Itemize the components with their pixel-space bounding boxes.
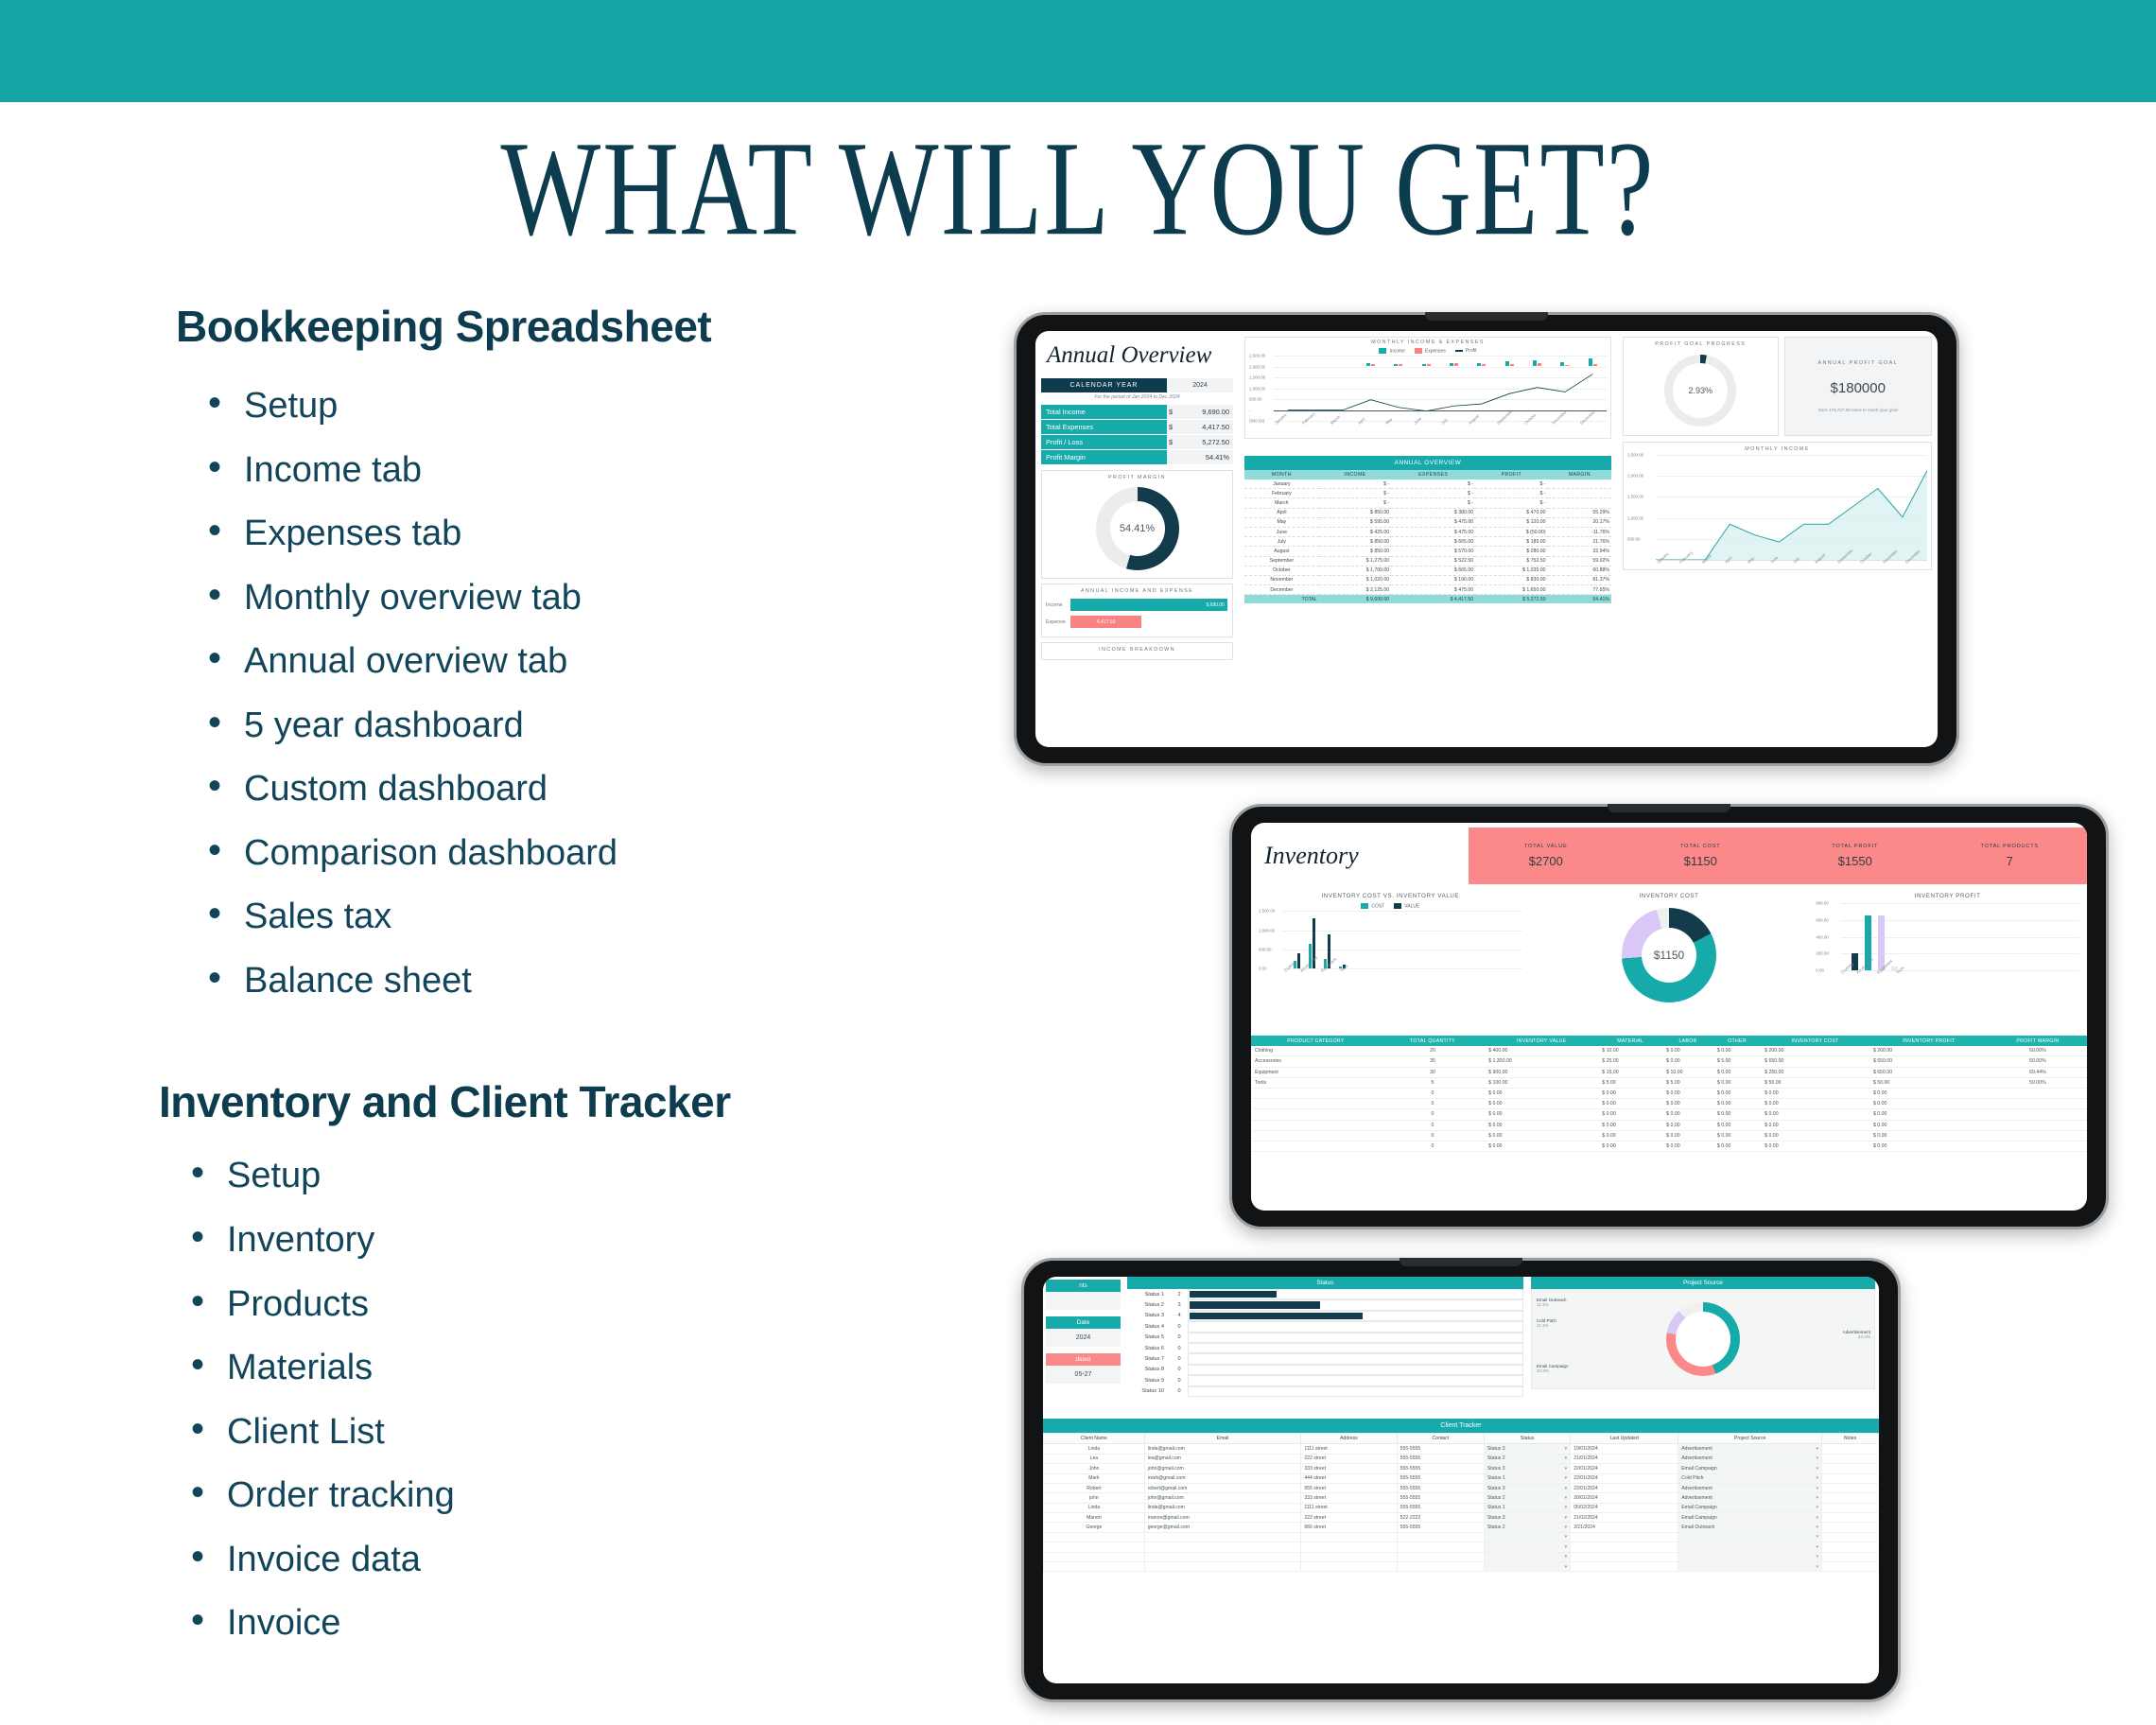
table-cell[interactable]: ▾ <box>1678 1561 1822 1571</box>
status-count: 4 <box>1171 1313 1188 1318</box>
table-cell: 222 street <box>1301 1454 1397 1463</box>
kpi-value: $2700 <box>1469 854 1624 868</box>
status-label: Status 10 <box>1127 1388 1171 1394</box>
table-cell <box>1989 1099 2087 1109</box>
status-row: Status 60 <box>1127 1343 1523 1353</box>
client-tracker-screen: nts Date 2024 dated 05-27 Status Status … <box>1043 1277 1879 1683</box>
table-cell: 20/01/2024 <box>1571 1493 1678 1503</box>
page-title: WHAT WILL YOU GET? <box>0 112 2156 268</box>
status-chart-panel: Status Status 12Status 23Status 34Status… <box>1123 1277 1527 1419</box>
project-source-title: Project Source <box>1531 1277 1875 1289</box>
table-cell[interactable]: Status 3▾ <box>1484 1464 1570 1473</box>
table-cell: $ - <box>1475 489 1547 498</box>
status-bar-track <box>1188 1321 1523 1332</box>
table-cell: -11.76% <box>1548 527 1611 536</box>
chevron-down-icon[interactable]: ▾ <box>1565 1534 1568 1540</box>
section-heading-inventory: Inventory and Client Tracker <box>159 1076 983 1127</box>
table-row: January$ -$ -$ - <box>1244 479 1611 489</box>
table-cell: $ 1,275.00 <box>1319 556 1391 566</box>
top-accent-bar <box>0 0 2156 102</box>
table-cell: $ 5,272.50 <box>1475 595 1547 604</box>
table-row: 0$ 0.00$ 0.00$ 0.00$ 0.00$ 0.00$ 0.00 <box>1251 1109 2087 1120</box>
status-bar-track <box>1188 1386 1523 1397</box>
table-row: ▾▾ <box>1044 1552 1879 1561</box>
table-cell: 0 <box>1381 1130 1485 1141</box>
chevron-down-icon[interactable]: ▾ <box>1565 1515 1568 1521</box>
table-cell <box>1251 1141 1381 1151</box>
list-item: Custom dashboard <box>193 769 983 810</box>
table-header-cell: MATERIAL <box>1598 1036 1662 1046</box>
table-header-cell: EXPENSES <box>1391 470 1475 479</box>
table-cell: 77.65% <box>1548 585 1611 595</box>
profit-goal-progress-card: PROFIT GOAL PROGRESS 2.93% <box>1623 337 1779 436</box>
clients-value <box>1046 1292 1121 1310</box>
table-cell: July <box>1244 537 1319 547</box>
table-cell: $ 0.00 <box>1713 1077 1761 1088</box>
table-cell[interactable]: ▾ <box>1484 1532 1570 1542</box>
table-cell: $ 0.00 <box>1662 1120 1713 1130</box>
chevron-down-icon[interactable]: ▾ <box>1565 1486 1568 1491</box>
calendar-year-value[interactable]: 2024 <box>1167 378 1233 392</box>
table-cell: 22/01/2024 <box>1571 1473 1678 1483</box>
table-header-cell: PROFIT <box>1475 470 1547 479</box>
table-cell[interactable]: Advertisement▾ <box>1678 1483 1822 1492</box>
table-cell: $ 650.00 <box>1869 1067 1989 1077</box>
table-cell: $ 0.00 <box>1485 1109 1598 1120</box>
table-cell: $ 0.00 <box>1713 1130 1761 1141</box>
chevron-down-icon[interactable]: ▾ <box>1565 1554 1568 1559</box>
table-cell: $ 0.00 <box>1662 1046 1713 1056</box>
chevron-down-icon[interactable]: ▾ <box>1565 1466 1568 1472</box>
table-cell: $ 0.00 <box>1761 1130 1869 1141</box>
table-cell: $ 475.00 <box>1391 517 1475 527</box>
table-cell: 0 <box>1381 1141 1485 1151</box>
kpi-label: Profit / Loss <box>1041 435 1167 449</box>
table-cell: $ 0.00 <box>1662 1099 1713 1109</box>
table-cell: 666 street <box>1301 1523 1397 1532</box>
table-row: Johnjohn@gmail.com333 street555-5555Stat… <box>1044 1464 1879 1473</box>
table-cell[interactable]: ▾ <box>1678 1542 1822 1552</box>
table-cell: $ 0.00 <box>1761 1141 1869 1151</box>
chevron-down-icon[interactable]: ▾ <box>1816 1554 1818 1559</box>
table-cell: $ 0.00 <box>1761 1120 1869 1130</box>
table-cell: June <box>1244 527 1319 536</box>
income-bar-row: Income 9,690.00 <box>1046 599 1228 611</box>
table-header-cell: Email <box>1144 1434 1301 1444</box>
table-row: Equipment30$ 900.00$ 15.00$ 10.00$ 0.00$… <box>1251 1067 2087 1077</box>
table-cell: January <box>1244 479 1319 489</box>
client-tracker-table: Client NameEmailAddressContactStatusLast… <box>1043 1433 1879 1572</box>
annual-profit-goal-value: $180000 <box>1831 380 1886 396</box>
table-cell: August <box>1244 547 1319 556</box>
donut-graphic <box>1666 1302 1740 1376</box>
table-cell[interactable]: Status 2▾ <box>1484 1523 1570 1532</box>
kpi-label: Total Income <box>1041 405 1167 419</box>
table-cell <box>1822 1473 1879 1483</box>
table-cell: 333 street <box>1301 1493 1397 1503</box>
status-row: Status 12 <box>1127 1289 1523 1299</box>
chart-x-axis-labels: ClothingAccessoriesEquipmentTools <box>1840 971 1906 976</box>
table-cell: 0 <box>1381 1109 1485 1120</box>
table-cell: 32.94% <box>1548 547 1611 556</box>
status-row: Status 70 <box>1127 1353 1523 1364</box>
table-cell: $ 100.00 <box>1485 1077 1598 1088</box>
inventory-feature-list: Setup Inventory Products Materials Clien… <box>176 1156 983 1643</box>
table-cell: $ - <box>1391 489 1475 498</box>
table-cell[interactable]: Status 3▾ <box>1484 1444 1570 1454</box>
status-row: Status 100 <box>1127 1386 1523 1397</box>
table-cell: $ 120.00 <box>1475 517 1547 527</box>
status-count: 2 <box>1171 1292 1188 1298</box>
table-row: ▾▾ <box>1044 1542 1879 1552</box>
table-cell <box>1548 489 1611 498</box>
list-item: Expenses tab <box>193 514 983 554</box>
kpi-label: TOTAL PROFIT <box>1778 844 1933 849</box>
period-note: For the period of Jan 2024 to Dec 2024 <box>1041 394 1233 400</box>
chevron-down-icon[interactable]: ▾ <box>1565 1525 1568 1530</box>
tablet-camera-notch <box>1400 1258 1522 1266</box>
kpi-value: $1150 <box>1624 854 1779 868</box>
table-cell: $ (50.00) <box>1475 527 1547 536</box>
inventory-cost-donut-chart: INVENTORY COST $1150 <box>1530 889 1809 1036</box>
features-column: Bookkeeping Spreadsheet Setup Income tab… <box>0 284 983 1667</box>
kpi-total-profit: TOTAL PROFIT $1550 <box>1778 844 1933 868</box>
annual-overview-table-block: ANNUAL OVERVIEW MONTHINCOMEEXPENSESPROFI… <box>1244 456 1611 603</box>
status-count: 3 <box>1171 1302 1188 1308</box>
table-cell: john@gmail.com <box>1144 1464 1301 1473</box>
section-heading-bookkeeping: Bookkeeping Spreadsheet <box>176 301 983 352</box>
kpi-profit-margin: Profit Margin 54.41% <box>1041 450 1233 464</box>
table-cell <box>1822 1561 1879 1571</box>
kpi-label: Total Expenses <box>1041 420 1167 434</box>
table-cell: $ 0.00 <box>1662 1056 1713 1067</box>
table-cell <box>1144 1542 1301 1552</box>
status-bar-track <box>1188 1353 1523 1364</box>
table-cell <box>1044 1552 1145 1561</box>
table-cell[interactable]: Email Campaign▾ <box>1678 1464 1822 1473</box>
list-item: Client List <box>176 1412 983 1453</box>
table-cell: 555-5555 <box>1397 1454 1484 1463</box>
list-item: Balance sheet <box>193 961 983 1002</box>
table-cell: $ 830.00 <box>1475 575 1547 584</box>
table-header-cell: LABOR <box>1662 1036 1713 1046</box>
table-row: February$ -$ -$ - <box>1244 489 1611 498</box>
bar-value: 9,690.00 <box>1207 602 1225 608</box>
table-header-cell: INVENTORY PROFIT <box>1869 1036 1989 1046</box>
table-cell: $ 50.00 <box>1869 1077 1989 1088</box>
table-cell: December <box>1244 585 1319 595</box>
kpi-label: TOTAL COST <box>1624 844 1779 849</box>
profit-margin-donut-chart: 54.41% <box>1046 483 1228 574</box>
table-row: johnjohn@gmail.com333 street555-5555Stat… <box>1044 1493 1879 1503</box>
table-cell: $ - <box>1475 479 1547 489</box>
list-item: Materials <box>176 1348 983 1388</box>
table-cell[interactable]: Email Campaign▾ <box>1678 1513 1822 1523</box>
chevron-down-icon[interactable]: ▾ <box>1816 1466 1818 1472</box>
chevron-down-icon[interactable]: ▾ <box>1565 1564 1568 1570</box>
chevron-down-icon[interactable]: ▾ <box>1565 1505 1568 1510</box>
table-cell: $ 1,650.00 <box>1475 585 1547 595</box>
table-cell: $ 50.00 <box>1761 1077 1869 1088</box>
table-cell <box>1822 1523 1879 1532</box>
chevron-down-icon[interactable]: ▾ <box>1816 1525 1818 1530</box>
inventory-dashboard-screen: Inventory TOTAL VALUE $2700 TOTAL COST $… <box>1251 823 2087 1211</box>
status-row: Status 90 <box>1127 1375 1523 1385</box>
table-cell: $ 400.00 <box>1485 1046 1598 1056</box>
status-count: 0 <box>1171 1324 1188 1330</box>
table-row: Lealea@gmail.com222 street555-5555Status… <box>1044 1454 1879 1463</box>
table-cell: 50.00% <box>1989 1046 2087 1056</box>
table-cell: $ 0.00 <box>1485 1099 1598 1109</box>
table-cell <box>1822 1532 1879 1542</box>
table-cell: Manon <box>1044 1513 1145 1523</box>
table-cell: $ 1,700.00 <box>1319 566 1391 575</box>
table-row: ▾▾ <box>1044 1532 1879 1542</box>
table-cell: 555-5555 <box>1397 1493 1484 1503</box>
table-row: 0$ 0.00$ 0.00$ 0.00$ 0.00$ 0.00$ 0.00 <box>1251 1088 2087 1098</box>
table-cell: 222 street <box>1301 1513 1397 1523</box>
card-title: PROFIT MARGIN <box>1046 475 1228 480</box>
kpi-value: 54.41% <box>1167 450 1233 464</box>
list-item: Products <box>176 1284 983 1325</box>
table-cell: 50.00% <box>1989 1077 2087 1088</box>
card-title: ANNUAL PROFIT GOAL <box>1817 360 1898 366</box>
list-item: Order tracking <box>176 1475 983 1516</box>
table-cell <box>1571 1532 1678 1542</box>
table-cell[interactable]: ▾ <box>1678 1532 1822 1542</box>
table-banner: ANNUAL OVERVIEW <box>1244 456 1611 470</box>
chevron-down-icon[interactable]: ▾ <box>1565 1475 1568 1481</box>
table-cell[interactable]: Status 1▾ <box>1484 1503 1570 1512</box>
table-cell[interactable]: Status 3▾ <box>1484 1513 1570 1523</box>
table-cell <box>1822 1513 1879 1523</box>
table-row: October$ 1,700.00$ 665.00$ 1,035.0060.88… <box>1244 566 1611 575</box>
table-cell: $ 0.00 <box>1713 1088 1761 1098</box>
income-breakdown-card: INCOME BREAKDOWN <box>1041 642 1233 660</box>
table-cell[interactable]: Status 2▾ <box>1484 1493 1570 1503</box>
table-row: 0$ 0.00$ 0.00$ 0.00$ 0.00$ 0.00$ 0.00 <box>1251 1099 2087 1109</box>
chart-plot-area: 1,500.001,000.00500.000.00 <box>1283 911 1522 969</box>
chevron-down-icon[interactable]: ▾ <box>1816 1495 1818 1501</box>
tablet-camera-notch <box>1608 804 1730 812</box>
inventory-kpi-bar: TOTAL VALUE $2700 TOTAL COST $1150 TOTAL… <box>1469 828 2087 884</box>
table-row: Tools5$ 100.00$ 5.00$ 5.00$ 0.00$ 50.00$… <box>1251 1077 2087 1088</box>
chevron-down-icon[interactable]: ▾ <box>1816 1515 1818 1521</box>
chart-title: INVENTORY PROFIT <box>1816 893 2079 899</box>
table-cell: $ 0.00 <box>1869 1099 1989 1109</box>
table-cell: April <box>1244 508 1319 517</box>
table-cell[interactable]: ▾ <box>1484 1561 1570 1571</box>
chevron-down-icon[interactable]: ▾ <box>1565 1455 1568 1461</box>
status-count: 0 <box>1171 1378 1188 1384</box>
table-cell: $ 10.00 <box>1662 1067 1713 1077</box>
list-item: Income tab <box>193 450 983 491</box>
table-cell: $ 0.00 <box>1598 1141 1662 1151</box>
table-cell[interactable]: Status 2▾ <box>1484 1454 1570 1463</box>
table-header-row: MONTHINCOMEEXPENSESPROFITMARGIN <box>1244 470 1611 479</box>
table-row: December$ 2,125.00$ 475.00$ 1,650.0077.6… <box>1244 585 1611 595</box>
table-cell: $ 185.00 <box>1475 537 1547 547</box>
table-cell: $ 475.00 <box>1391 527 1475 536</box>
chevron-down-icon[interactable]: ▾ <box>1816 1534 1818 1540</box>
table-cell <box>1989 1141 2087 1151</box>
table-cell: 19/01/2024 <box>1571 1444 1678 1454</box>
table-cell: $ 5.00 <box>1598 1077 1662 1088</box>
card-title: ANNUAL INCOME AND EXPENSE <box>1046 588 1228 594</box>
chevron-down-icon[interactable]: ▾ <box>1565 1544 1568 1550</box>
list-item: Invoice data <box>176 1540 983 1580</box>
table-cell: February <box>1244 489 1319 498</box>
tablet-mockup-client-tracker: nts Date 2024 dated 05-27 Status Status … <box>1021 1258 1901 1702</box>
table-cell: $ 5.00 <box>1713 1056 1761 1067</box>
table-row: 0$ 0.00$ 0.00$ 0.00$ 0.00$ 0.00$ 0.00 <box>1251 1120 2087 1130</box>
kpi-value: 7 <box>1933 854 2088 868</box>
table-cell[interactable]: Status 1▾ <box>1484 1473 1570 1483</box>
table-cell[interactable]: Status 3▾ <box>1484 1483 1570 1492</box>
table-header-cell: Contact <box>1397 1434 1484 1444</box>
table-cell[interactable]: Advertisement▾ <box>1678 1454 1822 1463</box>
kpi-value: 9,690.00 <box>1182 405 1233 419</box>
table-cell: $ 1,035.00 <box>1475 566 1547 575</box>
table-cell: george@gmail.com <box>1144 1523 1301 1532</box>
chevron-down-icon[interactable]: ▾ <box>1816 1544 1818 1550</box>
table-cell: 555-5555 <box>1397 1523 1484 1532</box>
chevron-down-icon[interactable]: ▾ <box>1565 1446 1568 1452</box>
chart-plot-area: 2,500.002,000.001,500.001,000.00500.00 <box>1656 455 1927 561</box>
table-cell: $ 0.00 <box>1713 1046 1761 1056</box>
table-cell <box>1822 1483 1879 1492</box>
table-cell[interactable]: ▾ <box>1678 1552 1822 1561</box>
table-cell: 21/02/2024 <box>1571 1513 1678 1523</box>
bar-label: Income <box>1046 602 1070 608</box>
table-cell: $ 0.00 <box>1485 1130 1598 1141</box>
table-row: Lindalinda@gmail.com1111 street555-5555S… <box>1044 1503 1879 1512</box>
table-cell: September <box>1244 556 1319 566</box>
bar-label: Expense <box>1046 619 1070 625</box>
chevron-down-icon[interactable]: ▾ <box>1816 1486 1818 1491</box>
table-cell: $ - <box>1319 479 1391 489</box>
table-cell: 69.44% <box>1989 1067 2087 1077</box>
table-header-cell: Project Source <box>1678 1434 1822 1444</box>
table-cell: $ 380.00 <box>1391 508 1475 517</box>
table-cell <box>1251 1088 1381 1098</box>
table-cell: $ 0.00 <box>1598 1088 1662 1098</box>
list-item: Comparison dashboard <box>193 833 983 874</box>
chevron-down-icon[interactable]: ▾ <box>1816 1475 1818 1481</box>
chevron-down-icon[interactable]: ▾ <box>1816 1505 1818 1510</box>
table-cell: $ 0.00 <box>1485 1120 1598 1130</box>
table-cell: $ - <box>1319 498 1391 508</box>
table-cell: Lea <box>1044 1454 1145 1463</box>
project-source-donut-chart: Email Outreach11.1% Cold Pitch11.1% Emai… <box>1531 1289 1875 1389</box>
chevron-down-icon[interactable]: ▾ <box>1565 1495 1568 1501</box>
table-cell: $ 0.00 <box>1869 1130 1989 1141</box>
table-row: June$ 425.00$ 475.00$ (50.00)-11.76% <box>1244 527 1611 536</box>
table-cell <box>1822 1444 1879 1454</box>
table-cell: $ 250.00 <box>1761 1067 1869 1077</box>
monthly-income-area-chart: MONTHLY INCOME 2,500.002,000.001,500.001… <box>1623 442 1932 570</box>
table-header-cell: MARGIN <box>1548 470 1611 479</box>
table-cell: $ 0.00 <box>1662 1088 1713 1098</box>
table-row: ▾▾ <box>1044 1561 1879 1571</box>
table-cell: 54.41% <box>1548 595 1611 604</box>
table-cell <box>1251 1120 1381 1130</box>
table-cell[interactable]: Email Campaign▾ <box>1678 1503 1822 1512</box>
table-header-cell: Address <box>1301 1434 1397 1444</box>
table-cell: $ 595.00 <box>1319 517 1391 527</box>
chart-title: INVENTORY COST VS. INVENTORY VALUE <box>1259 893 1522 899</box>
table-cell: George <box>1044 1523 1145 1532</box>
table-cell: $ 0.00 <box>1598 1130 1662 1141</box>
list-item: 5 year dashboard <box>193 706 983 746</box>
kpi-value: 4,417.50 <box>1182 420 1233 434</box>
table-cell: 35 <box>1381 1056 1485 1067</box>
table-cell[interactable]: Advertisement▾ <box>1678 1493 1822 1503</box>
table-row: November$ 1,020.00$ 190.00$ 830.0081.37% <box>1244 575 1611 584</box>
table-cell: $ 0.00 <box>1761 1109 1869 1120</box>
chevron-down-icon[interactable]: ▾ <box>1816 1446 1818 1452</box>
table-cell: 0 <box>1381 1120 1485 1130</box>
table-cell[interactable]: ▾ <box>1484 1542 1570 1552</box>
table-row: September$ 1,275.00$ 522.50$ 752.5059.02… <box>1244 556 1611 566</box>
table-cell: 81.37% <box>1548 575 1611 584</box>
table-cell: 0 <box>1381 1099 1485 1109</box>
table-header-cell: Status <box>1484 1434 1570 1444</box>
table-row: Manonmanon@gmail.com222 street522-2222St… <box>1044 1513 1879 1523</box>
kpi-label: Profit Margin <box>1041 450 1167 464</box>
table-cell[interactable]: Email Outreach▾ <box>1678 1523 1822 1532</box>
table-cell: $ 0.00 <box>1598 1120 1662 1130</box>
table-cell: $ 0.00 <box>1598 1109 1662 1120</box>
table-cell: $ 665.00 <box>1391 537 1475 547</box>
table-cell <box>1822 1493 1879 1503</box>
table-cell <box>1822 1552 1879 1561</box>
table-cell: $ 0.00 <box>1713 1067 1761 1077</box>
expense-bar: 4,417.50 <box>1070 616 1141 628</box>
table-cell: 50.00% <box>1989 1056 2087 1067</box>
table-cell: $ 0.00 <box>1662 1141 1713 1151</box>
table-cell[interactable]: Cold Pitch▾ <box>1678 1473 1822 1483</box>
inventory-title: Inventory <box>1251 842 1469 870</box>
calendar-year-label: CALENDAR YEAR <box>1041 378 1167 392</box>
table-cell: $ 190.00 <box>1391 575 1475 584</box>
chevron-down-icon[interactable]: ▾ <box>1816 1455 1818 1461</box>
list-item: Sales tax <box>193 897 983 937</box>
table-cell: 05/02/2024 <box>1571 1503 1678 1512</box>
table-cell[interactable]: Advertisement▾ <box>1678 1444 1822 1454</box>
table-cell: $ 10.00 <box>1598 1046 1662 1056</box>
table-row: Robertrobert@gmail.com555 street555-5555… <box>1044 1483 1879 1492</box>
updated-value: 05-27 <box>1046 1366 1121 1384</box>
inventory-profit-chart: INVENTORY PROFIT 800.00600.00400.00200.0… <box>1808 889 2087 1036</box>
table-row: Markmark@gmail.com444 street555-5555Stat… <box>1044 1473 1879 1483</box>
table-cell <box>1251 1099 1381 1109</box>
table-header-cell: MONTH <box>1244 470 1319 479</box>
table-cell: manon@gmail.com <box>1144 1513 1301 1523</box>
table-cell: Mark <box>1044 1473 1145 1483</box>
table-cell <box>1989 1109 2087 1120</box>
table-cell: $ 0.00 <box>1713 1099 1761 1109</box>
status-row: Status 80 <box>1127 1365 1523 1375</box>
status-count: 0 <box>1171 1346 1188 1351</box>
table-cell[interactable]: ▾ <box>1484 1552 1570 1561</box>
kpi-label: TOTAL PRODUCTS <box>1933 844 2088 849</box>
table-cell: $ 850.00 <box>1319 547 1391 556</box>
table-cell: Linda <box>1044 1503 1145 1512</box>
table-cell <box>1144 1561 1301 1571</box>
chevron-down-icon[interactable]: ▾ <box>1816 1564 1818 1570</box>
kpi-value: 5,272.50 <box>1182 435 1233 449</box>
